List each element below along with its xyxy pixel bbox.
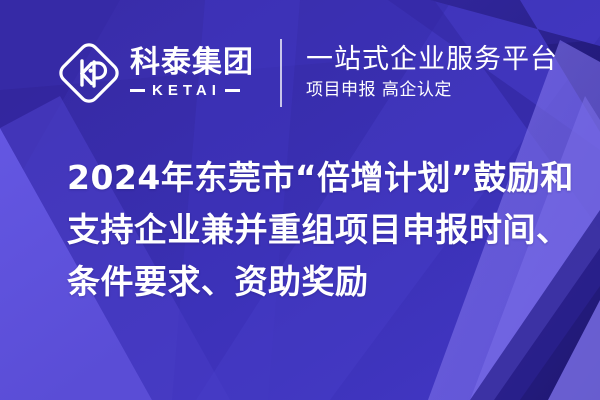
headline-line-2: 支持企业兼并重组项目申报时间、	[67, 204, 577, 256]
headline-block: 2024年东莞市“倍增计划”鼓励和 支持企业兼并重组项目申报时间、 条件要求、资…	[67, 152, 577, 308]
tagline-secondary: 项目申报 高企认定	[306, 79, 558, 101]
tagline-primary: 一站式企业服务平台	[306, 44, 558, 75]
logo-chinese-name: 科泰集团	[130, 47, 254, 78]
headline-line-1: 2024年东莞市“倍增计划”鼓励和	[67, 152, 577, 204]
logo-wordmark: 科泰集团 KETAI	[130, 42, 254, 104]
logo-dash-left-icon	[130, 89, 145, 92]
logo-english-name: KETAI	[152, 82, 221, 99]
brand-logo[interactable]: 科泰集团 KETAI	[58, 36, 254, 110]
logo-english-row: KETAI	[130, 82, 254, 99]
ketai-diamond-monogram-icon	[58, 42, 120, 104]
headline-line-3: 条件要求、资助奖励	[67, 256, 577, 308]
logo-dash-right-icon	[225, 89, 240, 92]
header-divider	[280, 39, 282, 107]
tagline-block: 一站式企业服务平台 项目申报 高企认定	[306, 38, 558, 108]
banner-header: 科泰集团 KETAI 一站式企业服务平台 项目申报 高企认定	[58, 36, 558, 110]
promo-banner: 科泰集团 KETAI 一站式企业服务平台 项目申报 高企认定 2024年东莞市“…	[0, 0, 600, 400]
